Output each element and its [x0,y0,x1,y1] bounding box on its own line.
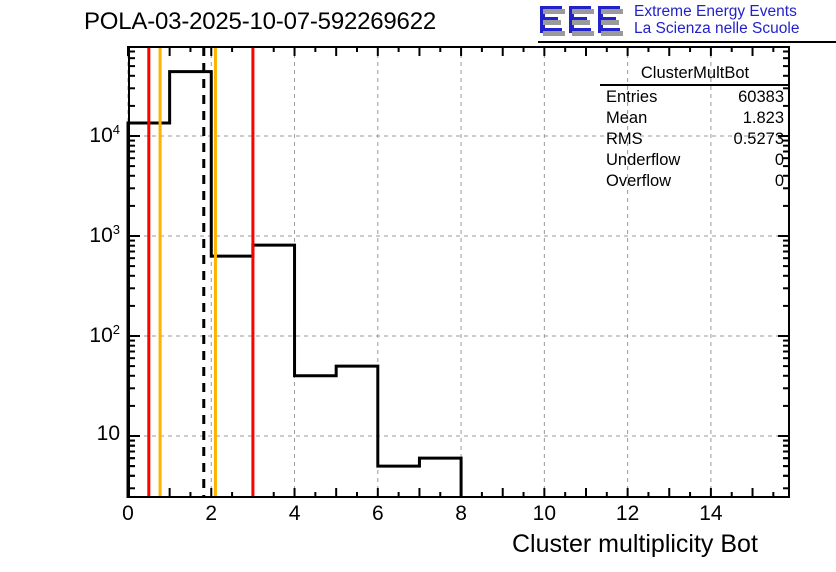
stats-value: 0 [775,171,784,191]
stats-row: Mean1.823 [600,107,790,128]
stats-value: 0.5273 [734,129,784,149]
x-tick-label: 14 [681,502,741,526]
y-tick-label: 103 [50,222,120,248]
stats-value: 60383 [738,87,784,107]
stats-box: ClusterMultBot Entries60383Mean1.823RMS0… [600,62,790,196]
x-tick-label: 8 [431,502,491,526]
x-tick-label: 0 [98,502,158,526]
stats-row: Entries60383 [600,86,790,107]
y-tick-label: 102 [50,322,120,348]
x-tick-label: 2 [181,502,241,526]
stats-box-title: ClusterMultBot [600,62,790,86]
x-axis-title: Cluster multiplicity Bot [512,530,758,559]
y-tick-label: 10 [50,422,120,446]
stats-key: Overflow [606,171,671,191]
stats-key: Mean [606,108,647,128]
stats-value: 1.823 [743,108,784,128]
stats-key: Underflow [606,150,680,170]
stats-row: RMS0.5273 [600,128,790,149]
stats-key: Entries [606,87,657,107]
stats-key: RMS [606,129,643,149]
x-tick-label: 6 [348,502,408,526]
x-tick-label: 10 [514,502,574,526]
stats-rows: Entries60383Mean1.823RMS0.5273Underflow0… [600,86,790,191]
histogram-page: POLA-03-2025-10-07-592269622 [0,0,836,572]
x-tick-label: 12 [598,502,658,526]
y-tick-label: 104 [50,122,120,148]
stats-value: 0 [775,150,784,170]
stats-row: Overflow0 [600,170,790,191]
x-tick-label: 4 [265,502,325,526]
stats-row: Underflow0 [600,149,790,170]
